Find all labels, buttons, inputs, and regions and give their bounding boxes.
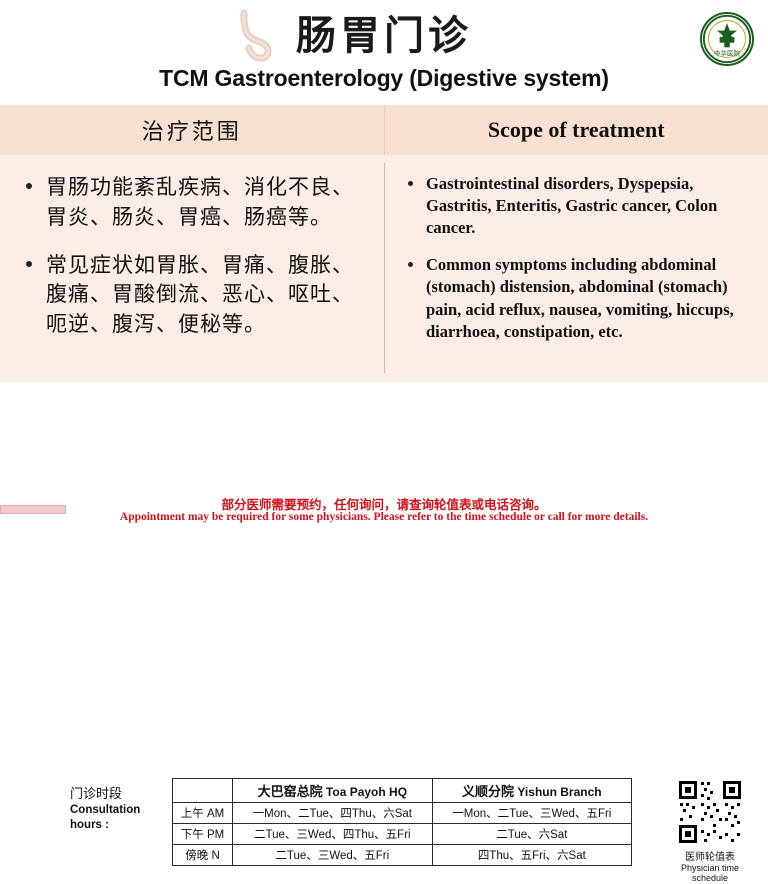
consultation-hours-label-en: Consultation hours : <box>70 803 170 833</box>
schedule-table: 大巴窑总院 Toa Payoh HQ 义顺分院 Yishun Branch 上午… <box>172 778 632 866</box>
clinic-logo-icon: 中华医院 <box>700 12 754 66</box>
page-title-en: TCM Gastroenterology (Digestive system) <box>0 65 768 92</box>
en-bullet-text: Common symptoms including abdominal (sto… <box>426 255 734 340</box>
content-column-cn: 胃肠功能紊乱疾病、消化不良、胃炎、肠炎、胃癌、肠癌等。 常见症状如胃胀、胃痛、腹… <box>0 155 384 382</box>
table-header-row: 大巴窑总院 Toa Payoh HQ 义顺分院 Yishun Branch <box>173 779 632 803</box>
list-item: Common symptoms including abdominal (sto… <box>404 254 752 342</box>
cell-pm-toa-payoh: 二Tue、三Wed、四Thu、五Fri <box>233 824 433 845</box>
svg-text:中华医院: 中华医院 <box>714 49 740 58</box>
en-bullet-list: Gastrointestinal disorders, Dyspepsia, G… <box>404 173 752 343</box>
cn-bullet-list: 胃肠功能紊乱疾病、消化不良、胃炎、肠炎、胃癌、肠癌等。 常见症状如胃胀、胃痛、腹… <box>20 173 368 340</box>
row-header-pm-cn: 下午 <box>181 829 204 841</box>
footer-note-en: Appointment may be required for some phy… <box>0 511 768 523</box>
page-title-cn: 肠胃门诊 <box>0 0 768 56</box>
cell-night-yishun: 四Thu、五Fri、六Sat <box>432 845 631 866</box>
cn-bullet-text: 胃肠功能紊乱疾病、消化不良、胃炎、肠炎、胃癌、肠癌等。 <box>46 175 354 229</box>
column-header-toa-payoh: 大巴窑总院 Toa Payoh HQ <box>233 779 433 803</box>
row-header-pm: 下午 PM <box>173 824 233 845</box>
content-column-divider <box>384 163 385 373</box>
table-row: 上午 AM 一Mon、二Tue、四Thu、六Sat 一Mon、二Tue、三Wed… <box>173 803 632 824</box>
list-item: Gastrointestinal disorders, Dyspepsia, G… <box>404 173 752 239</box>
decorative-pink-bar <box>0 505 66 514</box>
list-item: 胃肠功能紊乱疾病、消化不良、胃炎、肠炎、胃癌、肠癌等。 <box>20 173 368 233</box>
column-header-toa-payoh-en: Toa Payoh HQ <box>326 785 407 799</box>
qr-caption-en-line1: Physician time <box>666 863 754 873</box>
cell-pm-yishun: 二Tue、六Sat <box>432 824 631 845</box>
row-header-night-cn: 傍晚 <box>185 850 208 862</box>
cn-bullet-text: 常见症状如胃胀、胃痛、腹胀、腹痛、胃酸倒流、恶心、呕吐、呃逆、腹泻、便秘等。 <box>46 253 354 337</box>
row-header-night-en: N <box>211 850 219 862</box>
row-header-pm-en: PM <box>207 829 224 841</box>
column-header-toa-payoh-cn: 大巴窑总院 <box>258 784 323 799</box>
column-header-yishun: 义顺分院 Yishun Branch <box>432 779 631 803</box>
consultation-hours-label: 门诊时段 Consultation hours : <box>70 786 170 833</box>
content-column-en: Gastrointestinal disorders, Dyspepsia, G… <box>384 155 768 382</box>
scope-title-en: Scope of treatment <box>385 117 768 143</box>
column-header-yishun-cn: 义顺分院 <box>462 784 514 799</box>
header-empty-corner <box>173 779 233 803</box>
content-area: 胃肠功能紊乱疾病、消化不良、胃炎、肠炎、胃癌、肠癌等。 常见症状如胃胀、胃痛、腹… <box>0 155 768 382</box>
column-header-yishun-en: Yishun Branch <box>517 785 601 799</box>
consultation-hours-label-cn: 门诊时段 <box>70 786 170 803</box>
table-row: 下午 PM 二Tue、三Wed、四Thu、五Fri 二Tue、六Sat <box>173 824 632 845</box>
schedule-section: 门诊时段 Consultation hours : 大巴窑总院 Toa Payo… <box>0 382 768 494</box>
row-header-am-en: AM <box>207 808 224 820</box>
page-header: 肠胃门诊 TCM Gastroenterology (Digestive sys… <box>0 0 768 103</box>
qr-block: 医师轮值表 Physician time schedule <box>666 778 754 884</box>
en-bullet-text: Gastrointestinal disorders, Dyspepsia, G… <box>426 174 717 237</box>
row-header-night: 傍晚 N <box>173 845 233 866</box>
qr-caption-en-line2: schedule <box>666 873 754 883</box>
stomach-icon <box>228 10 276 62</box>
scope-band: 治疗范围 Scope of treatment <box>0 103 768 155</box>
cell-am-yishun: 一Mon、二Tue、三Wed、五Fri <box>432 803 631 824</box>
qr-caption-cn: 医师轮值表 <box>666 848 754 863</box>
cell-night-toa-payoh: 二Tue、三Wed、五Fri <box>233 845 433 866</box>
scope-title-cn: 治疗范围 <box>0 114 384 146</box>
list-item: 常见症状如胃胀、胃痛、腹胀、腹痛、胃酸倒流、恶心、呕吐、呃逆、腹泻、便秘等。 <box>20 251 368 340</box>
row-header-am: 上午 AM <box>173 803 233 824</box>
row-header-am-cn: 上午 <box>181 808 204 820</box>
table-row: 傍晚 N 二Tue、三Wed、五Fri 四Thu、五Fri、六Sat <box>173 845 632 866</box>
cell-am-toa-payoh: 一Mon、二Tue、四Thu、六Sat <box>233 803 433 824</box>
qr-code-icon[interactable] <box>676 778 744 846</box>
